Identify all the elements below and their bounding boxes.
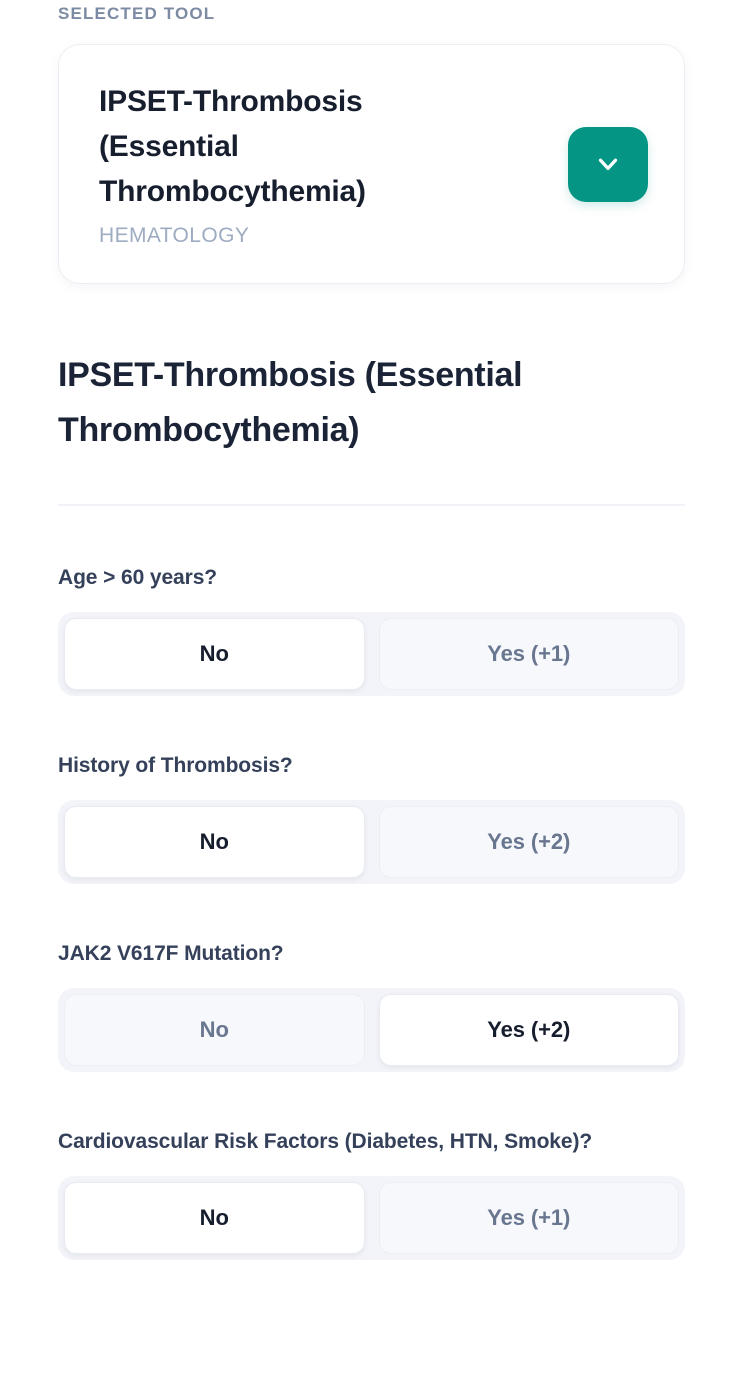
question-block: Cardiovascular Risk Factors (Diabetes, H… — [58, 1122, 685, 1260]
answer-option-no[interactable]: No — [64, 1182, 365, 1254]
answer-option-yes[interactable]: Yes (+1) — [379, 618, 680, 690]
question-label: Age > 60 years? — [58, 558, 685, 598]
answer-toggle-group: NoYes (+1) — [58, 1176, 685, 1260]
selected-tool-card[interactable]: IPSET-Thrombosis (Essential Thrombocythe… — [58, 44, 685, 284]
answer-toggle-group: NoYes (+2) — [58, 800, 685, 884]
calculator-page: SELECTED TOOL IPSET-Thrombosis (Essentia… — [0, 0, 743, 1394]
answer-option-no[interactable]: No — [64, 806, 365, 878]
question-label: Cardiovascular Risk Factors (Diabetes, H… — [58, 1122, 685, 1162]
question-block: History of Thrombosis?NoYes (+2) — [58, 746, 685, 884]
answer-option-yes[interactable]: Yes (+1) — [379, 1182, 680, 1254]
answer-toggle-group: NoYes (+1) — [58, 612, 685, 696]
question-label: History of Thrombosis? — [58, 746, 685, 786]
question-block: Age > 60 years?NoYes (+1) — [58, 558, 685, 696]
selected-tool-title: IPSET-Thrombosis (Essential Thrombocythe… — [99, 79, 469, 214]
answer-option-no[interactable]: No — [64, 618, 365, 690]
questions-list: Age > 60 years?NoYes (+1)History of Thro… — [58, 558, 685, 1260]
selected-tool-card-text: IPSET-Thrombosis (Essential Thrombocythe… — [99, 79, 568, 249]
question-label: JAK2 V617F Mutation? — [58, 934, 685, 974]
title-divider — [58, 504, 685, 506]
answer-option-yes[interactable]: Yes (+2) — [379, 994, 680, 1066]
question-block: JAK2 V617F Mutation?NoYes (+2) — [58, 934, 685, 1072]
page-title: IPSET-Thrombosis (Essential Thrombocythe… — [58, 348, 685, 458]
answer-option-no[interactable]: No — [64, 994, 365, 1066]
answer-option-yes[interactable]: Yes (+2) — [379, 806, 680, 878]
expand-tool-button[interactable] — [568, 127, 648, 202]
chevron-down-icon — [593, 149, 623, 179]
selected-tool-specialty: HEMATOLOGY — [99, 223, 554, 249]
selected-tool-section-label: SELECTED TOOL — [58, 0, 685, 24]
answer-toggle-group: NoYes (+2) — [58, 988, 685, 1072]
